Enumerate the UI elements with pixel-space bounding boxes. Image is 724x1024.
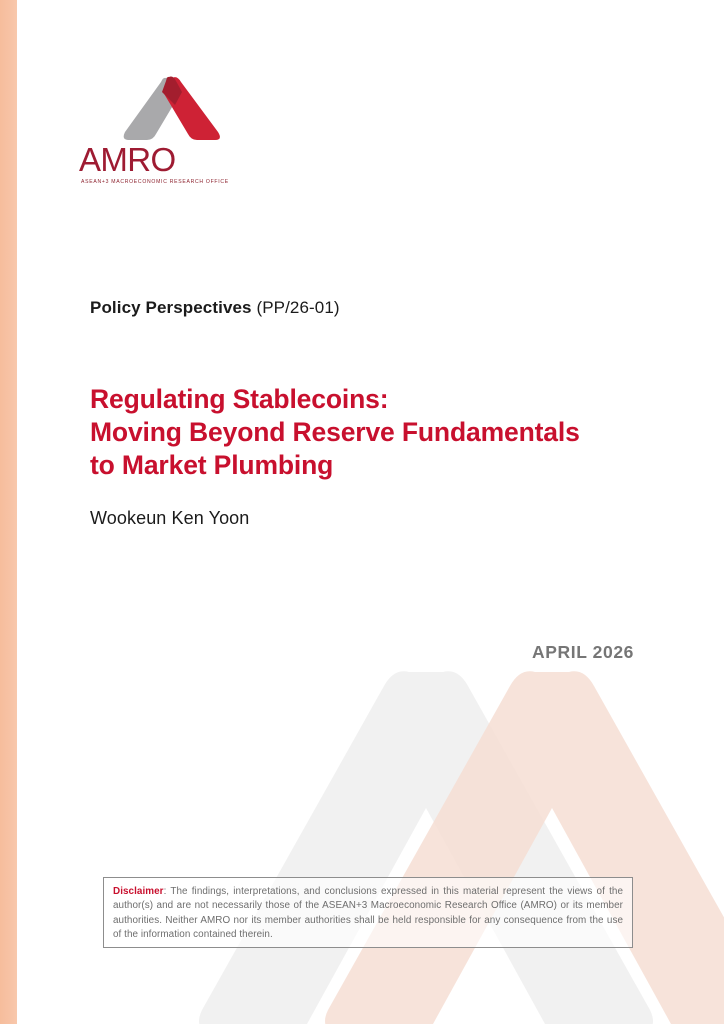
amro-tagline: ASEAN+3 MACROECONOMIC RESEARCH OFFICE: [81, 179, 299, 185]
series-line: Policy Perspectives (PP/26-01): [90, 298, 340, 318]
disclaimer-body: The findings, interpretations, and concl…: [113, 886, 623, 940]
title-line-2: Moving Beyond Reserve Fundamentals: [90, 416, 670, 449]
amro-logo: AMRO ASEAN+3 MACROECONOMIC RESEARCH OFFI…: [79, 72, 299, 185]
title-line-1: Regulating Stablecoins:: [90, 383, 670, 416]
page-edge-strip: [0, 0, 17, 1024]
amro-a-mark-icon: [117, 72, 227, 144]
disclaimer-label: Disclaimer: [113, 886, 164, 897]
title-line-3: to Market Plumbing: [90, 449, 670, 482]
page-title: Regulating Stablecoins: Moving Beyond Re…: [90, 383, 670, 482]
series-name: Policy Perspectives: [90, 298, 252, 317]
svg-text:AMRO: AMRO: [79, 142, 176, 178]
series-code: (PP/26-01): [256, 298, 339, 317]
publication-date: APRIL 2026: [532, 642, 634, 663]
cover-page: AMRO ASEAN+3 MACROECONOMIC RESEARCH OFFI…: [0, 0, 724, 1024]
amro-wordmark: AMRO: [79, 142, 221, 178]
disclaimer-text: Disclaimer: The findings, interpretation…: [113, 885, 623, 943]
author-name: Wookeun Ken Yoon: [90, 508, 249, 529]
disclaimer-box: Disclaimer: The findings, interpretation…: [103, 877, 633, 948]
